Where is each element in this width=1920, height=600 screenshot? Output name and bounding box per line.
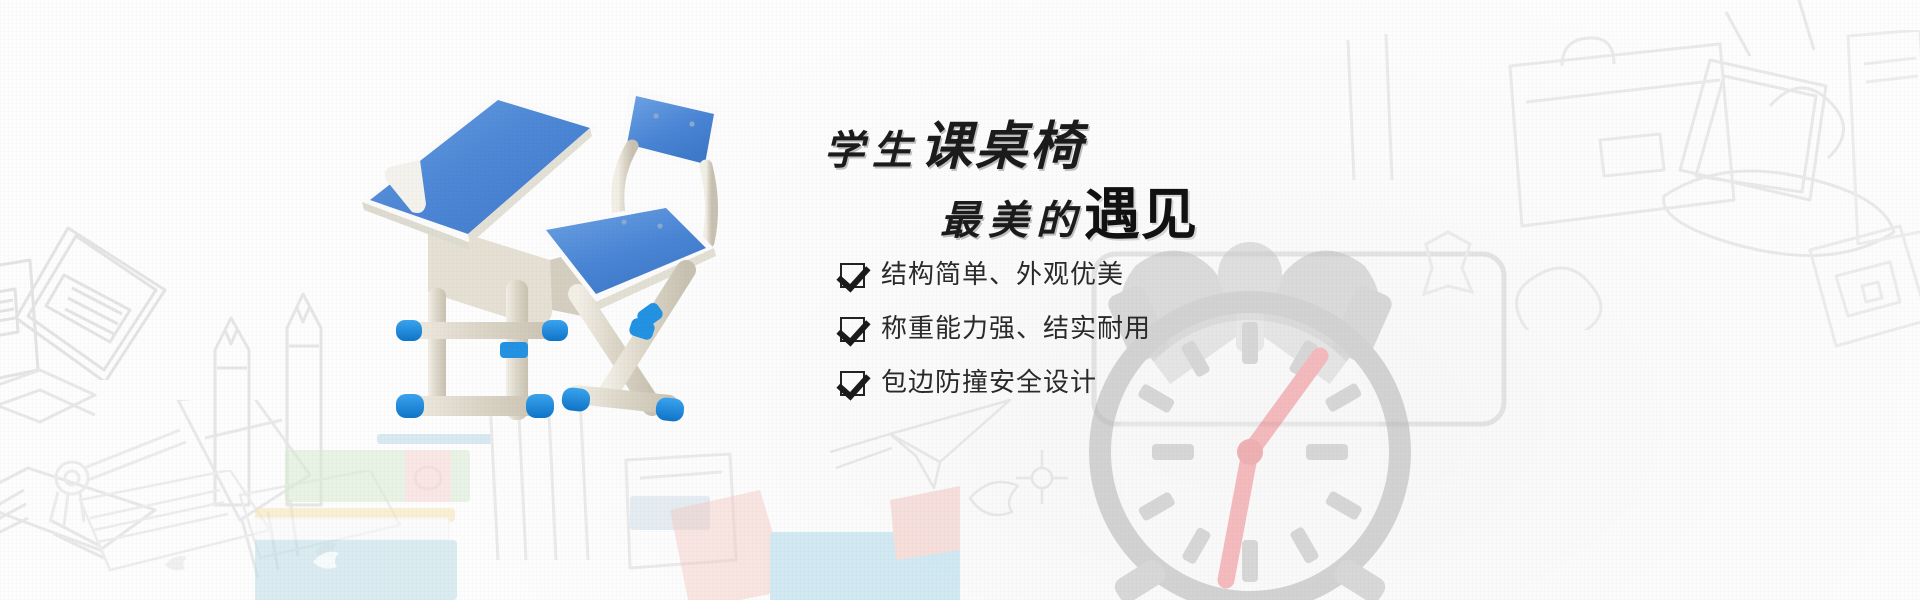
headline-line2-part2: 遇见: [1084, 183, 1198, 248]
feature-label: 包边防撞安全设计: [881, 370, 1097, 396]
headline-block: 学生课桌椅 最美的遇见: [818, 96, 1288, 246]
headline-line-2: 最美的遇见: [940, 170, 1198, 251]
notebook-sketch-top-left: [0, 120, 260, 380]
checkbox-checked-icon: [840, 263, 865, 288]
headline-line1-part2: 课桌椅: [920, 119, 1085, 176]
checkbox-checked-icon: [840, 317, 865, 342]
promo-banner: 学生课桌椅 最美的遇见 结构简单、外观优美 称重能力强、结实耐用 包边防撞安全设…: [0, 0, 1920, 600]
headline-line2-part1: 最美的: [940, 198, 1084, 243]
book-pages-sketch: [70, 470, 410, 600]
headline-line1-part1: 学生: [824, 128, 920, 173]
open-book-sketch-left: [0, 360, 310, 600]
feature-item: 包边防撞安全设计: [840, 360, 1151, 406]
notebook-sketch-top-right: [1840, 30, 1920, 260]
feature-label: 称重能力强、结实耐用: [881, 316, 1151, 342]
feature-list: 结构简单、外观优美 称重能力强、结实耐用 包边防撞安全设计: [840, 252, 1151, 414]
product-photo-desk-chair: [300, 70, 860, 460]
backpack-sketch-right: [1600, 0, 1920, 350]
checkbox-checked-icon: [840, 371, 865, 396]
feature-item: 称重能力强、结实耐用: [840, 306, 1151, 352]
feature-item: 结构简单、外观优美: [840, 252, 1151, 298]
headline-line-1: 学生课桌椅: [824, 104, 1085, 179]
feature-label: 结构简单、外观优美: [881, 262, 1124, 288]
